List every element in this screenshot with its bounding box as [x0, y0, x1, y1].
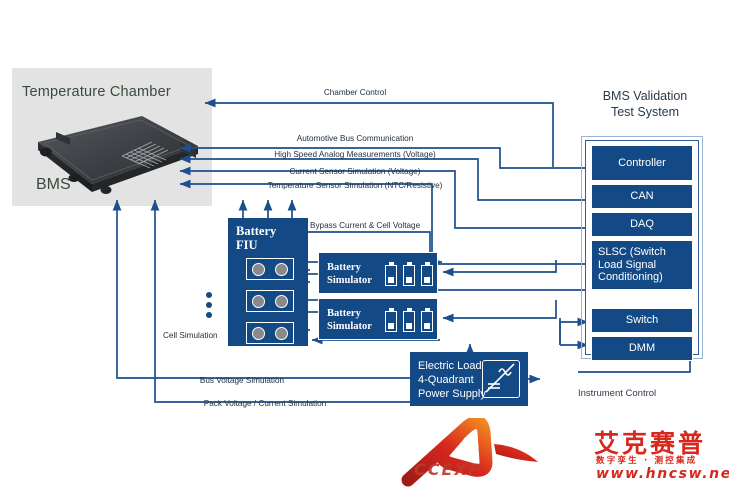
battery-cell-icon — [403, 308, 415, 332]
battery-cell-icon — [385, 262, 397, 286]
relay-contact-icon — [252, 327, 265, 340]
diagram-canvas: Temperature Chamber BMS — [0, 0, 729, 490]
wire-label-pack-voltage: Pack Voltage / Current Simulation — [204, 399, 326, 408]
relay-contact-icon — [275, 327, 288, 340]
watermark-tagline: 数字孪生 · 测控集成 — [596, 454, 697, 466]
electric-load-title: Electric Load 4-Quadrant Power Supply — [418, 359, 486, 401]
watermark-wordmark: CCEXP — [414, 460, 482, 479]
battery-cell-icon — [403, 262, 415, 286]
power-supply-icon — [482, 360, 520, 398]
rack-title: BMS Validation Test System — [575, 88, 715, 121]
fiu-relay-1[interactable] — [246, 258, 294, 280]
wire-label-bus-voltage: Bus Voltage Simulation — [200, 376, 284, 385]
accexp-logo-mark — [398, 418, 588, 490]
watermark-logo: CCEXP 艾克赛普 数字孪生 · 测控集成 www.hncsw.net — [398, 418, 729, 490]
relay-contact-icon — [252, 263, 265, 276]
battery-fiu-title: Battery FIU — [232, 224, 304, 253]
wire-label-temperature-sensor: Temperature Sensor Simulation (NTC/Resis… — [268, 181, 443, 190]
relay-contact-icon — [275, 295, 288, 308]
rack-module-controller[interactable]: Controller — [591, 145, 693, 181]
cell-simulation-ellipsis — [206, 292, 212, 322]
rack-module-switch[interactable]: Switch — [591, 308, 693, 333]
battery-simulator-1[interactable]: Battery Simulator — [318, 252, 438, 294]
fiu-relay-2[interactable] — [246, 290, 294, 312]
wire-label-bypass-current: Bypass Current & Cell Voltage — [310, 221, 420, 230]
battery-cell-icon — [421, 262, 433, 286]
wire-label-cell-simulation: Cell Simulation — [163, 331, 218, 340]
rack-module-daq[interactable]: DAQ — [591, 212, 693, 237]
fiu-relay-3[interactable] — [246, 322, 294, 344]
electric-load-block[interactable]: Electric Load 4-Quadrant Power Supply — [410, 352, 528, 406]
rack-module-can[interactable]: CAN — [591, 184, 693, 209]
battery-simulator-2[interactable]: Battery Simulator — [318, 298, 438, 340]
watermark-url: www.hncsw.net — [596, 466, 729, 482]
relay-contact-icon — [252, 295, 265, 308]
wire-label-high-speed-analog: High Speed Analog Measurements (Voltage) — [274, 150, 436, 159]
battery-cell-icon — [421, 308, 433, 332]
rack-module-dmm[interactable]: DMM — [591, 336, 693, 361]
battery-simulator-1-title: Battery Simulator — [327, 261, 372, 287]
wire-label-chamber-control: Chamber Control — [324, 88, 386, 97]
wire-label-automotive-bus: Automotive Bus Communication — [297, 134, 414, 143]
battery-simulator-2-title: Battery Simulator — [327, 307, 372, 333]
battery-cell-icon — [385, 308, 397, 332]
rack-module-slsc[interactable]: SLSC (Switch Load Signal Conditioning) — [591, 240, 693, 290]
wire-label-current-sensor: Current Sensor Simulation (Voltage) — [289, 167, 420, 176]
relay-contact-icon — [275, 263, 288, 276]
instrument-control-label: Instrument Control — [578, 388, 656, 399]
